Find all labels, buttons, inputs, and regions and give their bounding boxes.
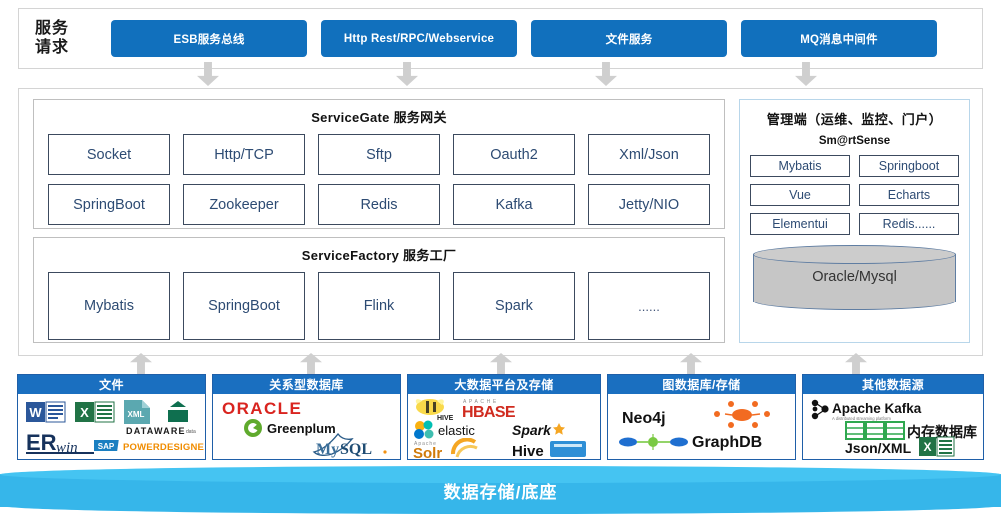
management-panel: 管理端（运维、监控、门户） Sm@rtSense Mybatis Springb… — [739, 99, 970, 343]
graphdb-nodes-icon — [617, 430, 691, 459]
svg-text:SAP: SAP — [98, 442, 115, 451]
data-source-other[interactable]: 其他数据源 Apache Kafka A distributed streami… — [802, 374, 984, 460]
mq-message-middleware-button[interactable]: MQ消息中间件 — [741, 20, 937, 57]
data-source-relational-body: ORACLE Greenplum My SQL — [213, 394, 400, 459]
tile-factory-springboot[interactable]: SpringBoot — [183, 272, 305, 340]
neo4j-logo: Neo4j — [622, 406, 692, 433]
tile-xml-json[interactable]: Xml/Json — [588, 134, 710, 175]
word-icon: W — [26, 401, 66, 428]
graphdb-logo: GraphDB — [692, 428, 788, 457]
data-source-graph-body: Neo4j — [608, 394, 795, 459]
tile-factory-more[interactable]: ...... — [588, 272, 710, 340]
excel-icon: X — [75, 401, 115, 428]
svg-text:Apache Kafka: Apache Kafka — [832, 401, 922, 416]
tile-springboot[interactable]: SpringBoot — [48, 184, 170, 225]
platform-container: ServiceGate 服务网关 Socket Http/TCP Sftp Oa… — [18, 88, 983, 356]
svg-text:Hive: Hive — [512, 443, 544, 459]
management-database-cylinder: Oracle/Mysql — [753, 245, 956, 309]
up-arrow-graphdb — [680, 353, 702, 375]
svg-text:Neo4j: Neo4j — [622, 410, 666, 427]
svg-text:W: W — [29, 405, 42, 420]
svg-text:SQL: SQL — [340, 441, 372, 458]
service-gate-section: ServiceGate 服务网关 Socket Http/TCP Sftp Oa… — [33, 99, 725, 229]
tile-oauth2[interactable]: Oauth2 — [453, 134, 575, 175]
up-arrow-bigdata — [490, 353, 512, 375]
service-factory-title: ServiceFactory 服务工厂 — [34, 245, 724, 264]
management-panel-subtitle: Sm@rtSense — [740, 135, 969, 147]
tile-jetty-nio[interactable]: Jetty/NIO — [588, 184, 710, 225]
tile-sftp[interactable]: Sftp — [318, 134, 440, 175]
mgmt-item-mybatis[interactable]: Mybatis — [750, 155, 850, 177]
esb-service-bus-button[interactable]: ESB服务总线 — [111, 20, 307, 57]
data-source-other-body: Apache Kafka A distributed streaming pla… — [803, 394, 983, 459]
svg-text:X: X — [923, 440, 931, 454]
mgmt-item-springboot[interactable]: Springboot — [859, 155, 959, 177]
data-source-relational-database[interactable]: 关系型数据库 ORACLE Greenplum — [212, 374, 401, 460]
svg-text:My: My — [316, 441, 339, 458]
svg-text:data: data — [186, 429, 196, 435]
management-panel-grid: Mybatis Springboot Vue Echarts Elementui… — [740, 147, 969, 235]
up-arrow-relational — [300, 353, 322, 375]
http-rest-rpc-webservice-button[interactable]: Http Rest/RPC/Webservice — [321, 20, 517, 57]
up-arrow-files — [130, 353, 152, 375]
service-gate-title: ServiceGate 服务网关 — [34, 107, 724, 126]
svg-text:GraphDB: GraphDB — [692, 434, 762, 451]
data-source-relational-title: 关系型数据库 — [213, 375, 400, 394]
service-gate-row-2: SpringBoot Zookeeper Redis Kafka Jetty/N… — [34, 184, 724, 225]
service-factory-row: Mybatis SpringBoot Flink Spark ...... — [34, 272, 724, 340]
mgmt-item-echarts[interactable]: Echarts — [859, 184, 959, 206]
tile-redis[interactable]: Redis — [318, 184, 440, 225]
up-arrow-other — [845, 353, 867, 375]
mgmt-item-vue[interactable]: Vue — [750, 184, 850, 206]
tile-zookeeper[interactable]: Zookeeper — [183, 184, 305, 225]
svg-text:Spark: Spark — [512, 422, 552, 438]
data-source-big-data-body: HIVE APACHE HBASE elastic — [408, 394, 600, 459]
hive-logo: Hive — [512, 438, 594, 459]
data-source-files-body: W X — [18, 394, 205, 459]
tile-kafka[interactable]: Kafka — [453, 184, 575, 225]
service-request-label-line1: 服务 — [35, 20, 107, 38]
service-request-label: 服务 请求 — [35, 20, 107, 57]
sap-powerdesigner-logo: SAP POWERDESIGNER — [94, 438, 204, 459]
tile-http-tcp[interactable]: Http/TCP — [183, 134, 305, 175]
tile-factory-spark[interactable]: Spark — [453, 272, 575, 340]
json-xml-label: Json/XML — [845, 440, 911, 456]
data-source-graph-title: 图数据库/存储 — [608, 375, 795, 394]
data-source-files[interactable]: 文件 W X — [17, 374, 206, 460]
mgmt-item-redis[interactable]: Redis...... — [859, 213, 959, 235]
service-request-bar: 服务 请求 ESB服务总线 Http Rest/RPC/Webservice 文… — [18, 8, 983, 69]
svg-text:HBASE: HBASE — [462, 404, 516, 420]
service-request-label-line2: 请求 — [35, 39, 107, 57]
solr-logo: Apache Solr — [413, 438, 508, 459]
service-request-buttons: ESB服务总线 Http Rest/RPC/Webservice 文件服务 MQ… — [111, 20, 937, 57]
service-factory-section: ServiceFactory 服务工厂 Mybatis SpringBoot F… — [33, 237, 725, 343]
data-source-files-title: 文件 — [18, 375, 205, 394]
svg-text:POWERDESIGNER: POWERDESIGNER — [123, 442, 204, 453]
excel-icon-small: X — [919, 436, 957, 459]
data-source-big-data-title: 大数据平台及存储 — [408, 375, 600, 394]
data-storage-base: 数据存储/底座 — [0, 466, 1001, 515]
database-label: Oracle/Mysql — [753, 245, 956, 309]
data-source-big-data[interactable]: 大数据平台及存储 HIVE APACHE HBASE — [407, 374, 601, 460]
mysql-logo: My SQL — [316, 438, 398, 459]
svg-text:ER: ER — [26, 430, 57, 455]
management-panel-title: 管理端（运维、监控、门户） — [740, 109, 969, 128]
svg-text:DATAWARE: DATAWARE — [126, 426, 186, 436]
svg-text:XML: XML — [128, 410, 145, 419]
tile-factory-flink[interactable]: Flink — [318, 272, 440, 340]
tile-socket[interactable]: Socket — [48, 134, 170, 175]
data-source-other-title: 其他数据源 — [803, 375, 983, 394]
file-service-button[interactable]: 文件服务 — [531, 20, 727, 57]
service-gate-row-1: Socket Http/TCP Sftp Oauth2 Xml/Json — [34, 134, 724, 175]
tile-factory-mybatis[interactable]: Mybatis — [48, 272, 170, 340]
svg-text:ORACLE: ORACLE — [222, 399, 302, 418]
mgmt-item-elementui[interactable]: Elementui — [750, 213, 850, 235]
svg-text:X: X — [80, 405, 89, 420]
architecture-diagram: 服务 请求 ESB服务总线 Http Rest/RPC/Webservice 文… — [0, 0, 1001, 515]
svg-text:elastic: elastic — [438, 423, 475, 438]
svg-text:Solr: Solr — [413, 445, 442, 459]
data-source-graph-database[interactable]: 图数据库/存储 Neo4j — [607, 374, 796, 460]
data-storage-base-label: 数据存储/底座 — [0, 466, 1001, 515]
